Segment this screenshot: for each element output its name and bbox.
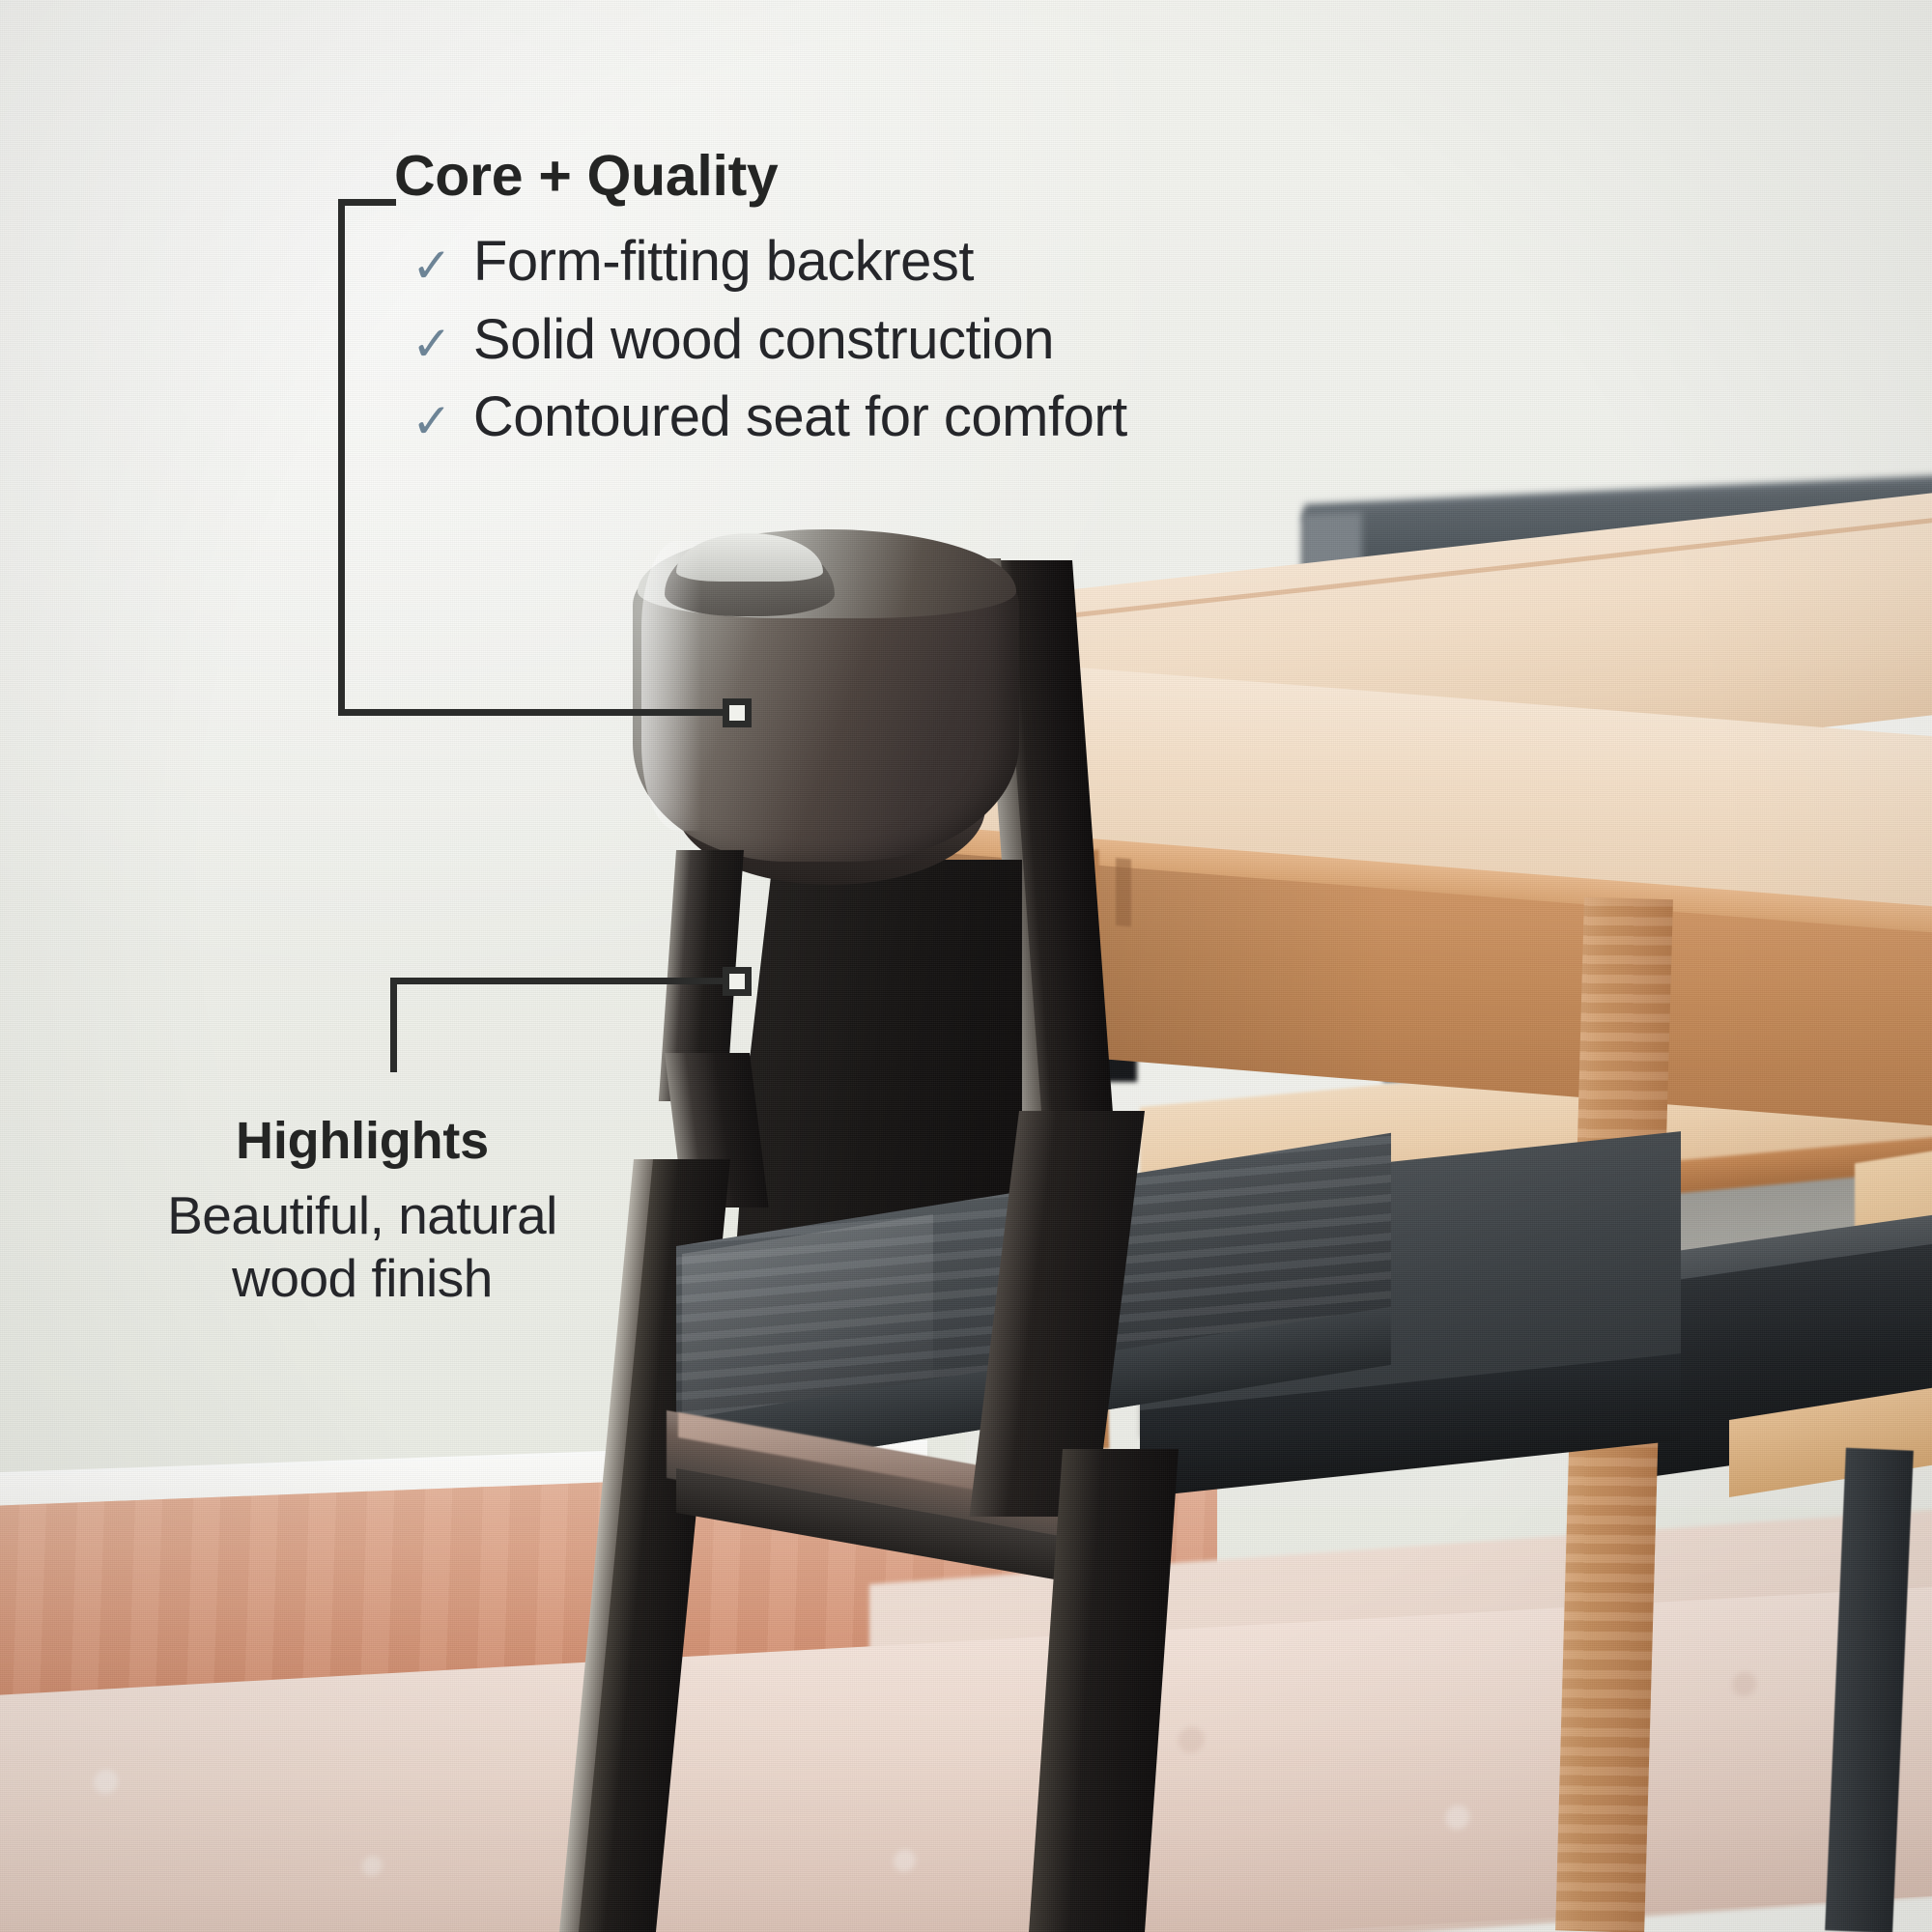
- feature-label: Solid wood construction: [473, 306, 1054, 375]
- list-item: ✓ Solid wood construction: [394, 306, 1534, 375]
- check-icon: ✓: [412, 397, 452, 445]
- highlights-callout-horizontal-line: [390, 978, 728, 984]
- core-callout-vertical-line: [338, 199, 345, 716]
- core-quality-feature-list: ✓ Form-fitting backrest ✓ Solid wood con…: [394, 228, 1534, 452]
- list-item: ✓ Contoured seat for comfort: [394, 384, 1534, 452]
- highlights-callout: Highlights Beautiful, natural wood finis…: [29, 1111, 696, 1310]
- check-icon: ✓: [412, 320, 452, 368]
- highlights-body-line-2: wood finish: [29, 1247, 696, 1310]
- product-callout-image: Core + Quality ✓ Form-fitting backrest ✓…: [0, 0, 1932, 1932]
- core-callout-connector-square: [723, 698, 752, 727]
- feature-label: Form-fitting backrest: [473, 228, 974, 297]
- annotation-overlay: Core + Quality ✓ Form-fitting backrest ✓…: [0, 0, 1932, 1932]
- highlights-body-line-1: Beautiful, natural: [29, 1184, 696, 1247]
- highlights-title: Highlights: [29, 1111, 696, 1171]
- core-callout-horizontal-line: [338, 709, 729, 716]
- core-quality-callout: Core + Quality ✓ Form-fitting backrest ✓…: [394, 147, 1534, 462]
- core-quality-title: Core + Quality: [394, 147, 1534, 207]
- highlights-callout-vertical-line: [390, 978, 397, 1072]
- list-item: ✓ Form-fitting backrest: [394, 228, 1534, 297]
- core-callout-top-stub: [338, 199, 396, 206]
- check-icon: ✓: [412, 241, 452, 290]
- feature-label: Contoured seat for comfort: [473, 384, 1127, 452]
